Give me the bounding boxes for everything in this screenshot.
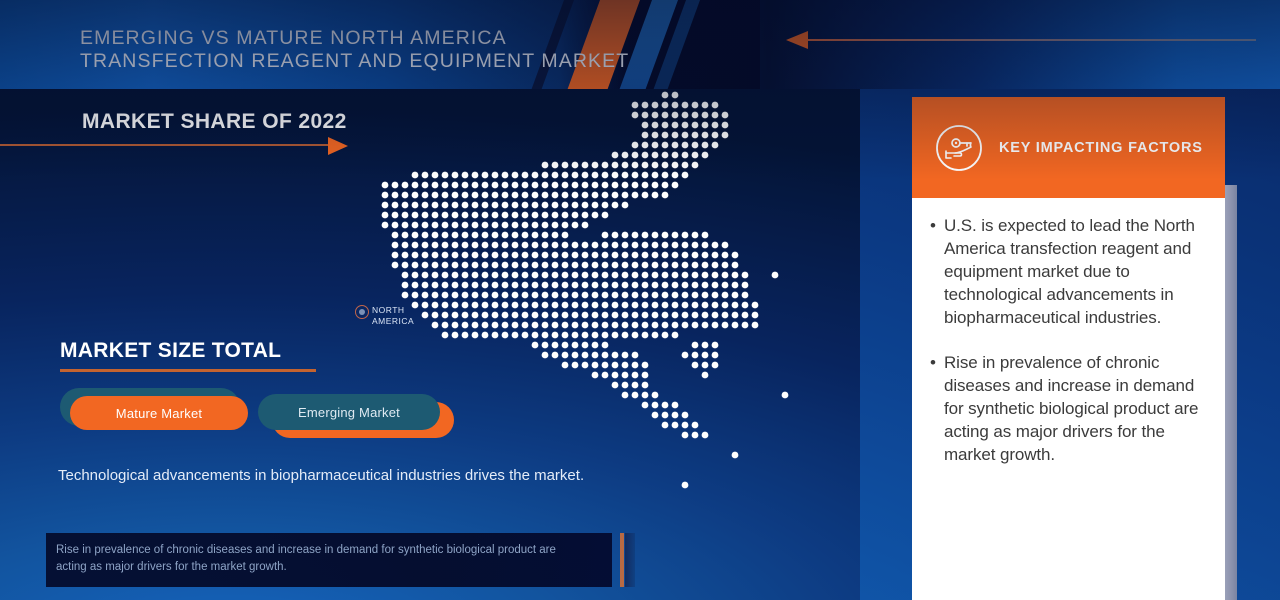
bullet-marker: • — [930, 351, 944, 466]
page-title-line-1: EMERGING VS MATURE NORTH AMERICA — [80, 27, 700, 50]
header-arrow-line — [808, 39, 1256, 41]
market-share-rule — [0, 144, 330, 146]
page-title: EMERGING VS MATURE NORTH AMERICA TRANSFE… — [80, 27, 700, 73]
market-caption: Technological advancements in biopharmac… — [58, 464, 598, 487]
panel-bullet-list: • U.S. is expected to lead the North Ame… — [912, 198, 1225, 488]
market-size-underline — [60, 369, 316, 372]
marker-dot — [359, 309, 365, 315]
emerging-market-pill[interactable]: Emerging Market — [258, 394, 440, 430]
list-item: • U.S. is expected to lead the North Ame… — [930, 214, 1205, 329]
bullet-marker: • — [930, 214, 944, 329]
region-label-line-2: AMERICA — [372, 316, 414, 327]
list-item: • Rise in prevalence of chronic diseases… — [930, 351, 1205, 466]
region-label: NORTH AMERICA — [372, 305, 414, 327]
left-arrow-icon — [786, 31, 808, 49]
page-title-line-2: TRANSFECTION REAGENT AND EQUIPMENT MARKE… — [80, 50, 700, 73]
bullet-text: U.S. is expected to lead the North Ameri… — [944, 214, 1205, 329]
panel-header: KEY IMPACTING FACTORS — [912, 97, 1225, 198]
mature-market-pill[interactable]: Mature Market — [70, 396, 248, 430]
infographic-canvas: EMERGING VS MATURE NORTH AMERICA TRANSFE… — [0, 0, 1280, 600]
key-impacting-factors-panel: KEY IMPACTING FACTORS • U.S. is expected… — [912, 97, 1225, 600]
location-ring-icon — [355, 305, 369, 319]
panel-drop-shadow — [1225, 185, 1237, 600]
market-size-heading: MARKET SIZE TOTAL — [60, 339, 281, 363]
panel-title: KEY IMPACTING FACTORS — [999, 140, 1203, 156]
map-svg — [370, 90, 800, 500]
right-arrow-icon — [328, 137, 348, 155]
footer-accent-bar-secondary — [625, 533, 635, 587]
market-legend: Mature Market Emerging Market — [60, 388, 480, 438]
region-label-line-1: NORTH — [372, 305, 414, 316]
header-arrow — [786, 31, 1256, 49]
market-share-heading: MARKET SHARE OF 2022 — [82, 110, 347, 134]
bullet-text: Rise in prevalence of chronic diseases a… — [944, 351, 1205, 466]
footer-accent-bar — [620, 533, 624, 587]
footer-note: Rise in prevalence of chronic diseases a… — [56, 542, 586, 576]
hand-holding-key-icon — [935, 124, 983, 172]
north-america-dot-map — [370, 90, 800, 500]
